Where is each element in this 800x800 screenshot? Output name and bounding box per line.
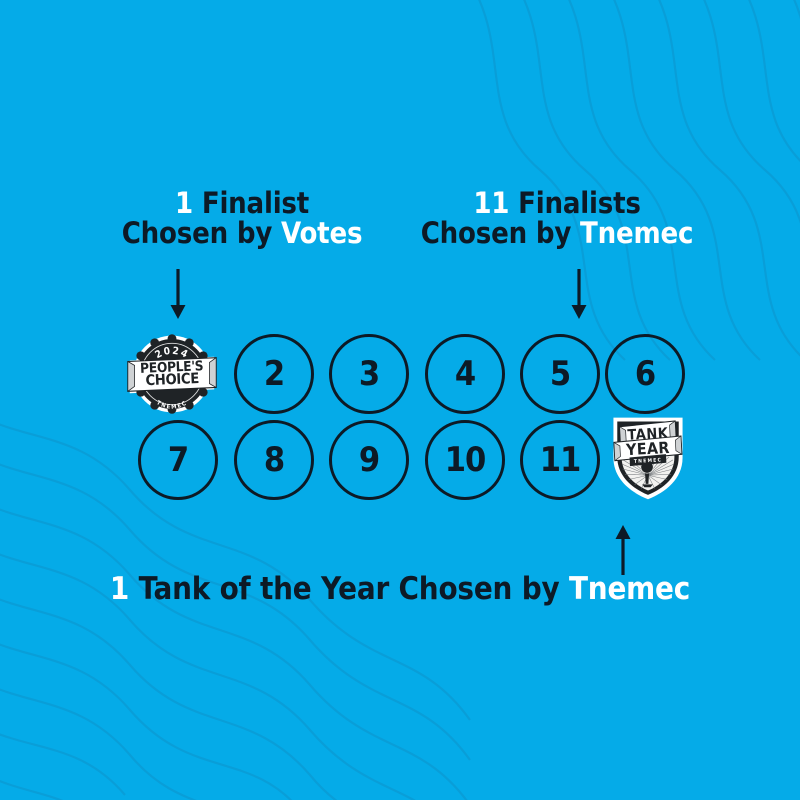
finalist-circle-7[interactable]: 7 — [138, 420, 218, 500]
finalist-slot: 10 — [425, 420, 507, 502]
finalist-circle-4[interactable]: 4 — [425, 334, 505, 414]
svg-text:CHOICE: CHOICE — [145, 370, 199, 389]
arrow-down-icon-tnemec — [564, 268, 594, 320]
finalist-slot: 8 — [234, 420, 316, 502]
headline-row: 1 Finalist Chosen by Votes 11 Finalists … — [92, 188, 712, 248]
bottom-caption-count: 1 — [110, 571, 129, 607]
headline-tnemec-line1: 11 Finalists — [402, 188, 712, 218]
finalist-slot: 6 — [605, 334, 687, 416]
arrow-down-icon-votes — [163, 268, 193, 320]
headline-tnemec-label: Finalists — [518, 186, 641, 220]
finalist-slot: 4 — [425, 334, 507, 416]
finalist-circle-11[interactable]: 11 — [520, 420, 600, 500]
headline-votes-count: 1 — [175, 186, 193, 220]
finalist-circle-9[interactable]: 9 — [329, 420, 409, 500]
finalist-slot: 11 — [520, 420, 602, 502]
peoples-choice-badge-icon[interactable]: 2024 TNEMEC PEOPLE'S — [124, 326, 220, 422]
infographic-canvas: 1 Finalist Chosen by Votes 11 Finalists … — [0, 0, 800, 800]
headline-tnemec-count: 11 — [473, 186, 509, 220]
finalist-circle-6[interactable]: 6 — [605, 334, 685, 414]
finalist-circle-10[interactable]: 10 — [425, 420, 505, 500]
headline-tnemec-prefix: Chosen by — [421, 216, 571, 250]
finalist-circle-3[interactable]: 3 — [329, 334, 409, 414]
headline-tnemec-line2: Chosen by Tnemec — [402, 218, 712, 248]
headline-votes-accent: Votes — [281, 216, 362, 250]
headline-votes-line2: Chosen by Votes — [92, 218, 392, 248]
headline-tnemec-accent: Tnemec — [580, 216, 693, 250]
tank-of-the-year-badge-icon[interactable]: TANK of the YEAR TNEMEC — [600, 408, 696, 504]
finalist-row-2: 7 8 9 10 11 — [138, 420, 698, 502]
finalist-circle-2[interactable]: 2 — [234, 334, 314, 414]
finalist-slot: 7 — [138, 420, 220, 502]
finalist-slot: 5 — [520, 334, 602, 416]
arrow-up-icon-tank-of-year — [608, 524, 638, 576]
finalist-slot: 2 — [234, 334, 316, 416]
headline-tnemec: 11 Finalists Chosen by Tnemec — [402, 188, 712, 248]
finalist-slot: 9 — [329, 420, 411, 502]
headline-votes-prefix: Chosen by — [122, 216, 272, 250]
finalist-row-1: 2024 TNEMEC PEOPLE'S — [138, 334, 698, 416]
headline-votes: 1 Finalist Chosen by Votes — [92, 188, 392, 248]
bottom-caption-accent: Tnemec — [569, 571, 690, 607]
bottom-caption-middle: Tank of the Year Chosen by — [139, 571, 560, 607]
finalist-circle-8[interactable]: 8 — [234, 420, 314, 500]
headline-votes-line1: 1 Finalist — [92, 188, 392, 218]
finalist-slot: 3 — [329, 334, 411, 416]
finalist-circle-5[interactable]: 5 — [520, 334, 600, 414]
bottom-caption: 1 Tank of the Year Chosen by Tnemec — [0, 572, 800, 606]
headline-votes-label: Finalist — [202, 186, 309, 220]
